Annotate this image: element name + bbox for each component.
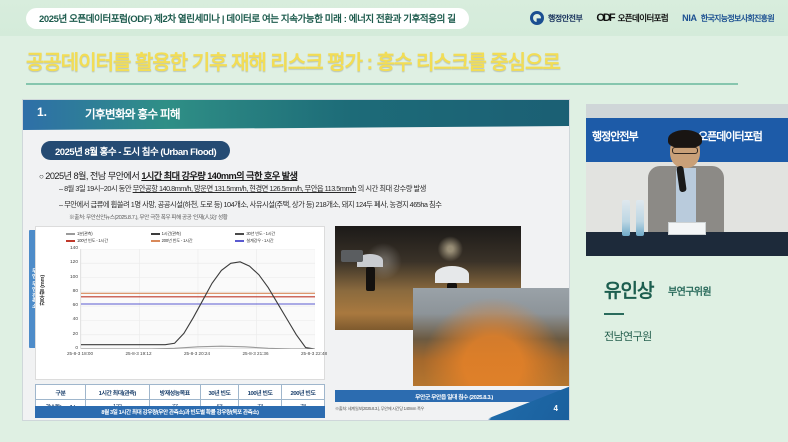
chart-y-ticks: 020406080100120140 [48,245,78,353]
speaker-organization: 전남연구원 [604,328,652,344]
top-bar: 2025년 오픈데이터포럼(ODF) 제2차 열린세미나 | 데이터로 여는 지… [0,0,788,36]
y-axis-tick: 100 [52,275,78,280]
rainfall-chart: 1분(관측)1시간(관측)30년 빈도 - 1시간100년 빈도 - 1시간20… [35,226,325,380]
bullet-secondary-1-post: 의 시간 최대 강수량 발생 [356,184,426,193]
table-column-header: 구분 [36,385,86,400]
logo-odf-label: 오픈데이터포럼 [618,12,669,24]
headline-band: 공공데이터를 활용한 기후 재해 리스크 평가 : 홍수 리스크를 중심으로 [0,36,788,94]
bullet-primary-pre: 2025년 8월, 전남 무안에서 [45,171,141,181]
slide-panel: 1. 기후변화와 홍수 피해 2025년 8월 홍수 - 도시 침수 (Urba… [22,99,570,421]
logo-odf: ODF 오픈데이터포럼 [596,12,668,24]
panel-table [586,232,788,256]
legend-swatch-icon [151,233,160,235]
logo-nia: NIA 한국지능정보사회진흥원 [682,13,774,24]
y-axis-tick: 40 [52,317,78,322]
chart-legend: 1분(관측)1시간(관측)30년 빈도 - 1시간100년 빈도 - 1시간20… [66,231,318,244]
slide-body: 2025년 8월 홍수 - 도시 침수 (Urban Flood) ○2025년… [23,130,570,421]
speaker-name: 유인상 [604,276,653,303]
y-axis-tick: 60 [52,303,78,308]
legend-item: 1시간(관측) [151,231,234,237]
legend-swatch-icon [235,240,244,242]
slide-subtitle-pill: 2025년 8월 홍수 - 도시 침수 (Urban Flood) [41,141,230,160]
slide-page-number: 4 [554,404,558,413]
legend-label: 1시간(관측) [162,231,181,237]
table-column-header: 30년 빈도 [200,385,238,400]
bullet-secondary-1: – 8월 3일 19시~20시 동안 무안공항 140.8mm/h, 망운면 1… [59,184,426,194]
session-title-pill: 2025년 오픈데이터포럼(ODF) 제2차 열린세미나 | 데이터로 여는 지… [26,8,469,29]
presentation-stage: 2025년 오픈데이터포럼(ODF) 제2차 열린세미나 | 데이터로 여는 지… [0,0,788,442]
bullet-circle-icon: ○ [39,172,43,181]
legend-item: 30년 빈도 - 1시간 [235,231,318,237]
bullet-secondary-1-pre: 8월 3일 19시~20시 동안 [64,184,133,193]
legend-label: 30년 빈도 - 1시간 [246,231,275,237]
rainfall-table-head: 구분1시간 최대(관측)방재성능목표30년 빈도100년 빈도200년 빈도 [36,385,325,400]
chart-svg [81,249,315,349]
table-column-header: 방재성능목표 [149,385,200,400]
logo-nia-label: 한국지능정보사회진흥원 [701,13,774,24]
x-axis-tick: 25-8-3 20:24 [184,351,210,356]
x-axis-tick: 25-8-3 21:36 [242,351,268,356]
table-header-row: 구분1시간 최대(관측)방재성능목표30년 빈도100년 빈도200년 빈도 [36,385,325,400]
table-column-header: 1시간 최대(관측) [86,385,149,400]
logo-mois-label: 행정안전부 [548,13,582,24]
legend-swatch-icon [66,240,75,242]
bullet-secondary-2: – 무안에서 급류에 휩쓸려 1명 사망, 공공시설(하천, 도로 등) 104… [59,200,441,210]
legend-item: 1분(관측) [66,231,149,237]
bullet-secondary-1-values: 무안공항 140.8mm/h, 망운면 131.5mm/h, 현경면 126.5… [133,184,357,193]
legend-label: 설계강우 - 1시간 [246,238,273,244]
parked-car [341,250,363,262]
speaker-video-feed[interactable]: 행정안전부 오픈데이터포럼 [586,104,788,256]
page-title: 공공데이터를 활용한 기후 재해 리스크 평가 : 홍수 리스크를 중심으로 [26,46,560,75]
x-axis-tick: 25-8-3 18:00 [67,351,93,356]
legend-label: 200년 빈도 - 1시간 [162,238,193,244]
glasses-icon [672,147,698,154]
bullet-source-note: ※출처: 무안신안뉴스(2025.8.7.), 무안 극한 폭우 피해 공공 '… [69,213,227,221]
y-axis-tick: 140 [52,246,78,251]
flood-photo-field [413,288,570,386]
bullet-primary-emphasis: 1시간 최대 강우량 140mm의 극한 호우 발생 [141,171,297,181]
gov-emblem-icon [530,11,544,25]
legend-swatch-icon [151,240,160,242]
stage-banner-right-text: 오픈데이터포럼 [698,128,762,144]
x-axis-tick: 25-8-3 22:48 [301,351,327,356]
table-source: ※출처: 기상청 기상자료개방포털(무안관측소), 환경부 국가수자원관리종합정… [35,420,335,421]
logo-mois: 행정안전부 [530,11,582,25]
chart-y-axis-label: 강우량 (mm) [39,275,47,305]
legend-label: 1분(관측) [77,231,92,237]
legend-item: 200년 빈도 - 1시간 [151,238,234,244]
speaker-divider [604,313,624,315]
legend-item: 100년 빈도 - 1시간 [66,238,149,244]
chart-x-ticks: 25-8-3 18:0025-8-3 19:1225-8-3 20:2425-8… [80,351,314,361]
water-bottle [636,200,644,236]
speaker-hair [668,130,702,148]
pedestrian-figure [366,267,375,291]
y-axis-tick: 80 [52,289,78,294]
x-axis-tick: 25-8-3 19:12 [125,351,151,356]
nia-mark-icon: NIA [682,13,697,23]
odf-mark-icon: ODF [596,12,613,24]
water-bottle [622,200,630,236]
y-axis-tick: 120 [52,260,78,265]
bullet-primary: ○2025년 8월, 전남 무안에서 1시간 최대 강우량 140mm의 극한 … [39,168,297,182]
slide-section-number: 1. [37,105,47,119]
table-column-header: 100년 빈도 [239,385,282,400]
chart-plot-area [80,249,314,349]
stage-banner-left-text: 행정안전부 [592,128,638,144]
table-column-header: 200년 빈도 [282,385,325,400]
legend-swatch-icon [66,233,75,235]
table-caption: 8월 3일 1시간 최대 강우량(무안 관측소)과 빈도별 확률 강우량(목포 … [35,406,325,418]
legend-item: 설계강우 - 1시간 [235,238,318,244]
bullet-secondary-2-text: 무안에서 급류에 휩쓸려 1명 사망, 공공시설(하천, 도로 등) 104개소… [64,200,441,209]
umbrella-icon [435,266,469,283]
speaker-role: 부연구위원 [668,283,711,298]
legend-swatch-icon [235,233,244,235]
y-axis-tick: 20 [52,332,78,337]
legend-label: 100년 빈도 - 1시간 [77,238,108,244]
desk-nameplate [668,222,706,235]
headline-divider [26,83,738,85]
slide-section-title: 기후변화와 홍수 피해 [85,106,180,122]
partner-logos: 행정안전부 ODF 오픈데이터포럼 NIA 한국지능정보사회진흥원 [530,0,774,36]
